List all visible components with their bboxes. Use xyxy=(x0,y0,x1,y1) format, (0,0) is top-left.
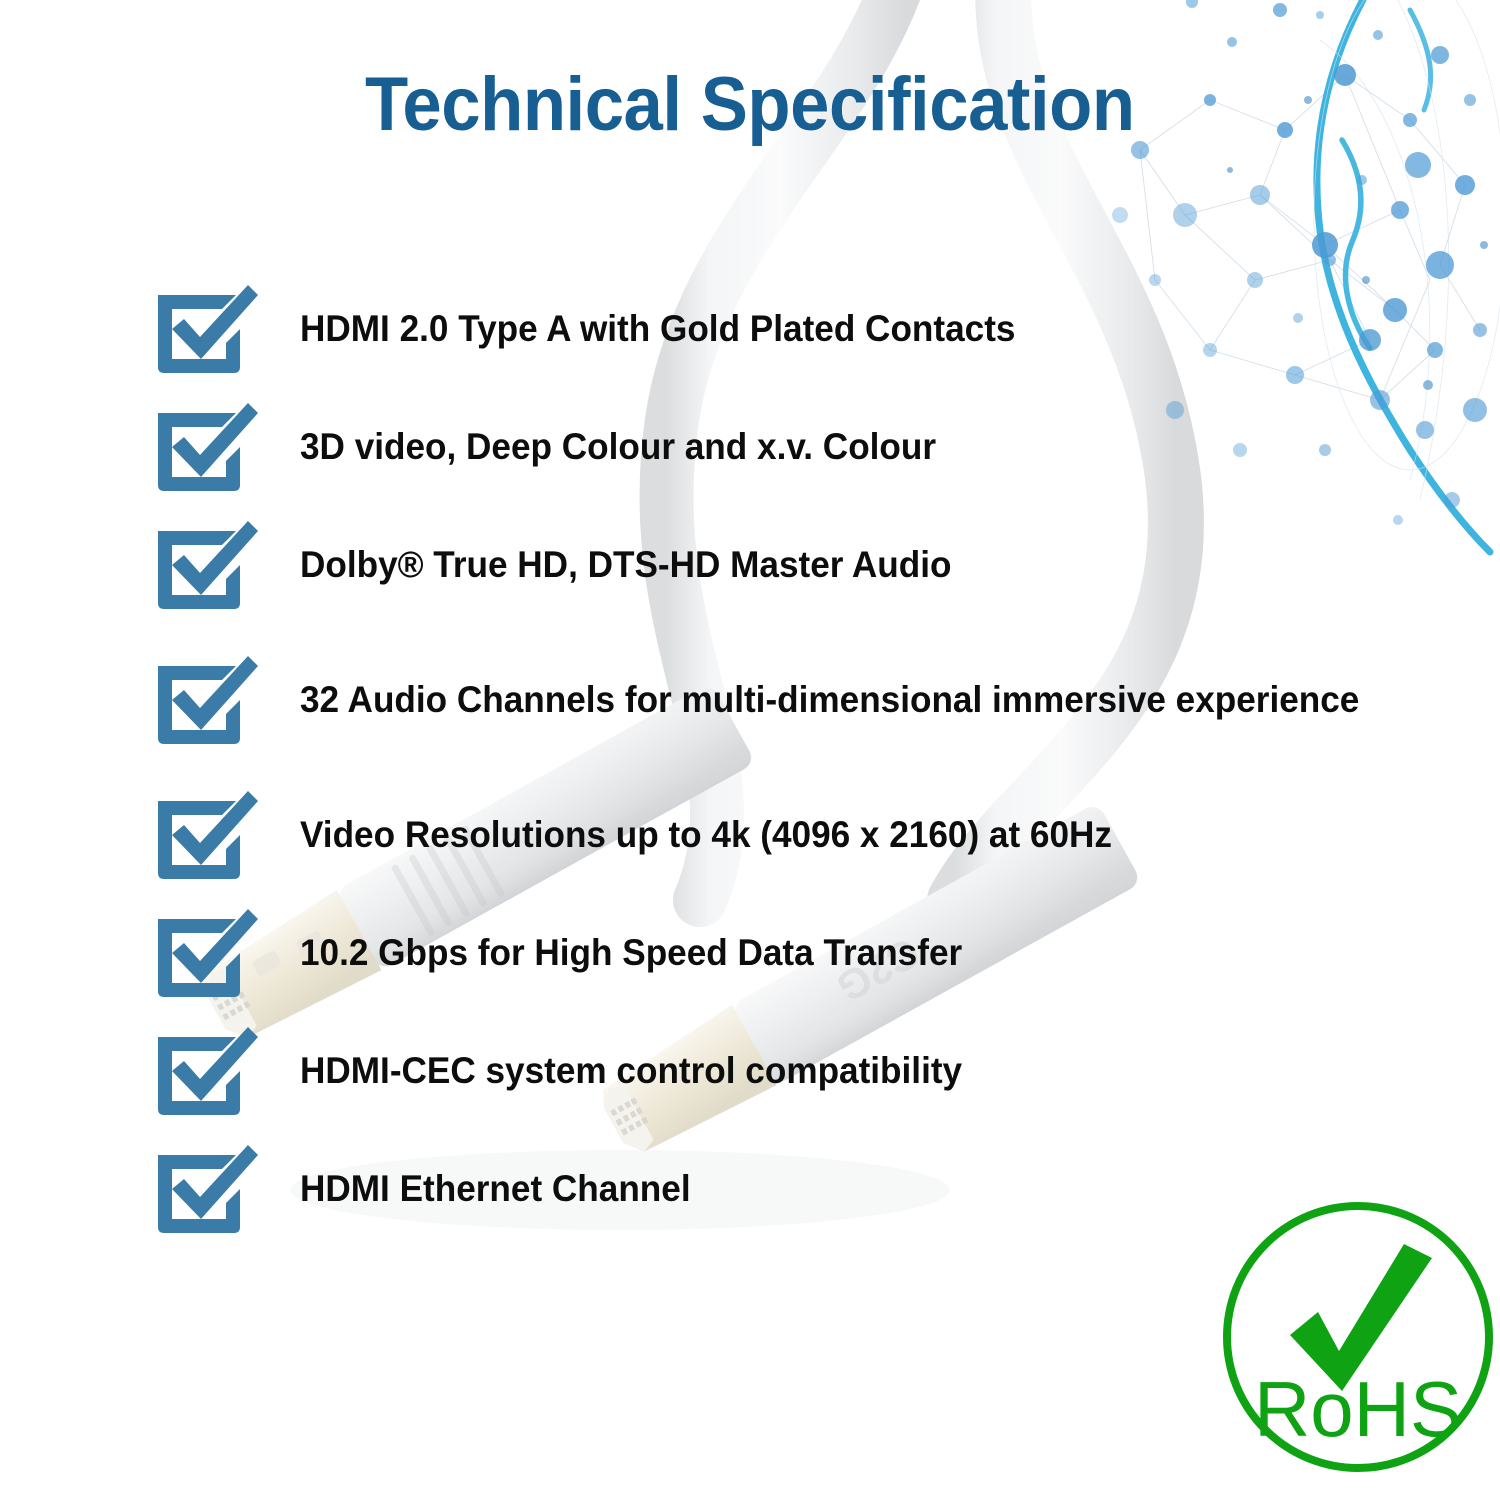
spec-item: HDMI 2.0 Type A with Gold Plated Contact… xyxy=(0,270,1500,388)
spec-item-label: Video Resolutions up to 4k (4096 x 2160)… xyxy=(300,811,1112,859)
page-title-text: Technical Specification xyxy=(365,62,1135,148)
spec-item-label: Dolby® True HD, DTS-HD Master Audio xyxy=(300,541,951,589)
checkbox-checked-icon xyxy=(148,395,260,499)
spec-item: 3D video, Deep Colour and x.v. Colour xyxy=(0,388,1500,506)
spec-item: HDMI-CEC system control compatibility xyxy=(0,1012,1500,1130)
spec-item-label: HDMI 2.0 Type A with Gold Plated Contact… xyxy=(300,305,1015,353)
spec-item-label: 32 Audio Channels for multi-dimensional … xyxy=(300,672,1359,728)
checkbox-checked-icon xyxy=(148,1137,260,1241)
rohs-badge: RoHS xyxy=(1218,1196,1498,1478)
spec-item: Dolby® True HD, DTS-HD Master Audio xyxy=(0,506,1500,624)
spec-item: 10.2 Gbps for High Speed Data Transfer xyxy=(0,894,1500,1012)
checkbox-checked-icon xyxy=(148,783,260,887)
spec-item-label: HDMI-CEC system control compatibility xyxy=(300,1047,962,1095)
checkbox-checked-icon xyxy=(148,648,260,752)
spec-item-label: 3D video, Deep Colour and x.v. Colour xyxy=(300,423,936,471)
rohs-label: RoHS xyxy=(1254,1365,1462,1453)
page-title: Technical Specification xyxy=(0,62,1500,148)
checkbox-checked-icon xyxy=(148,1019,260,1123)
checkbox-checked-icon xyxy=(148,513,260,617)
spec-item-label: 10.2 Gbps for High Speed Data Transfer xyxy=(300,929,962,977)
checkbox-checked-icon xyxy=(148,277,260,381)
spec-item: 32 Audio Channels for multi-dimensional … xyxy=(0,624,1500,776)
spec-item: Video Resolutions up to 4k (4096 x 2160)… xyxy=(0,776,1500,894)
specification-list: HDMI 2.0 Type A with Gold Plated Contact… xyxy=(0,270,1500,1248)
checkbox-checked-icon xyxy=(148,901,260,1005)
spec-item-label: HDMI Ethernet Channel xyxy=(300,1165,691,1213)
technical-specification-page: C2G xyxy=(0,0,1500,1500)
